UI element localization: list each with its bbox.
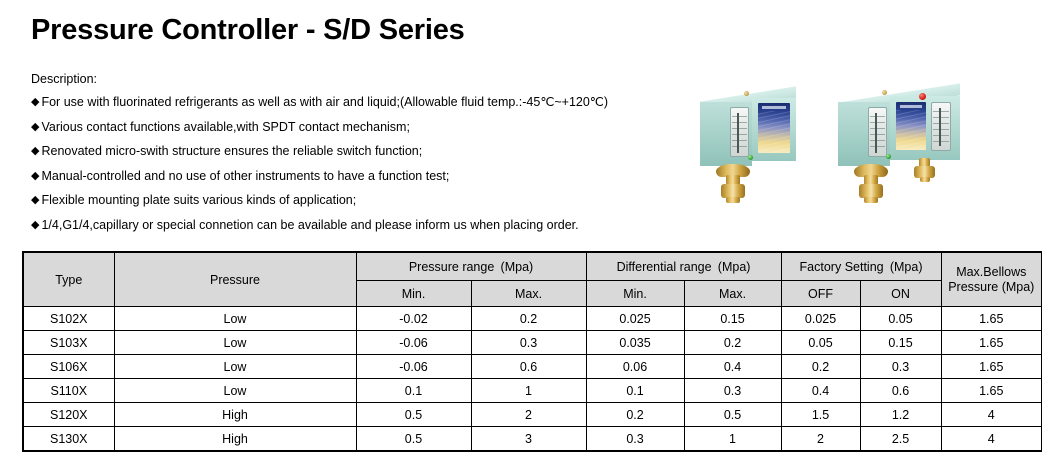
description-bullet-text: Manual-controlled and no use of other in…: [41, 169, 449, 183]
cell-fs-on: 2.5: [860, 427, 941, 452]
table-body: S102X Low -0.02 0.2 0.025 0.15 0.025 0.0…: [23, 307, 1042, 452]
cell-fs-off: 2: [781, 427, 860, 452]
cell-pr-min: 0.5: [356, 427, 471, 452]
single-pressure-controller-image: [678, 62, 838, 222]
product-label-panel: [758, 103, 790, 153]
cell-type: S103X: [23, 331, 114, 355]
table-header-row-1: Type Pressure Pressure range (Mpa) Diffe…: [23, 252, 1042, 281]
cell-fs-off: 0.025: [781, 307, 860, 331]
diamond-bullet-icon: ◆: [31, 218, 39, 232]
cell-fs-off: 0.4: [781, 379, 860, 403]
cell-pressure: Low: [114, 379, 356, 403]
cell-dr-min: 0.3: [586, 427, 684, 452]
cell-dr-max: 0.3: [684, 379, 781, 403]
cell-pressure: High: [114, 403, 356, 427]
cell-pr-max: 0.2: [471, 307, 586, 331]
description-bullet-3: ◆ Renovated micro-swith structure ensure…: [31, 144, 671, 158]
col-header-max-bellows: Max.Bellows Pressure (Mpa): [941, 252, 1042, 307]
cell-dr-min: 0.2: [586, 403, 684, 427]
cell-pr-max: 0.6: [471, 355, 586, 379]
col-header-differential-range: Differential range (Mpa): [586, 252, 781, 281]
col-header-dr-max: Max.: [684, 281, 781, 307]
green-indicator-icon: [886, 154, 891, 159]
table-row: S102X Low -0.02 0.2 0.025 0.15 0.025 0.0…: [23, 307, 1042, 331]
description-bullet-text: 1/4,G1/4,capillary or special connetion …: [41, 218, 578, 232]
diamond-bullet-icon: ◆: [31, 120, 39, 134]
description-bullet-text: Flexible mounting plate suits various ki…: [41, 193, 356, 207]
cell-pr-min: 0.5: [356, 403, 471, 427]
cell-pressure: Low: [114, 355, 356, 379]
diamond-bullet-icon: ◆: [31, 144, 39, 158]
cell-dr-min: 0.035: [586, 331, 684, 355]
cell-type: S110X: [23, 379, 114, 403]
cell-max-bellows: 1.65: [941, 379, 1042, 403]
col-header-type: Type: [23, 252, 114, 307]
cell-fs-on: 0.3: [860, 355, 941, 379]
product-image-strip: [668, 62, 1028, 222]
description-bullet-text: Renovated micro-swith structure ensures …: [41, 144, 422, 158]
dual-pressure-controller-image: [826, 62, 986, 222]
diamond-bullet-icon: ◆: [31, 193, 39, 207]
cell-fs-on: 1.2: [860, 403, 941, 427]
cell-max-bellows: 1.65: [941, 355, 1042, 379]
green-indicator-icon: [748, 155, 753, 160]
cell-fs-on: 0.15: [860, 331, 941, 355]
col-header-pr-min: Min.: [356, 281, 471, 307]
diamond-bullet-icon: ◆: [31, 95, 39, 109]
table-row: S120X High 0.5 2 0.2 0.5 1.5 1.2 4: [23, 403, 1042, 427]
table-header: Type Pressure Pressure range (Mpa) Diffe…: [23, 252, 1042, 307]
cell-pr-max: 0.3: [471, 331, 586, 355]
cell-dr-min: 0.06: [586, 355, 684, 379]
table-row: S106X Low -0.06 0.6 0.06 0.4 0.2 0.3 1.6…: [23, 355, 1042, 379]
description-bullet-4: ◆ Manual-controlled and no use of other …: [31, 169, 671, 183]
description-bullet-6: ◆ 1/4,G1/4,capillary or special connetio…: [31, 218, 671, 232]
cell-type: S130X: [23, 427, 114, 452]
description-bullet-text: For use with fluorinated refrigerants as…: [41, 95, 608, 109]
max-bellows-line-2: Pressure (Mpa): [948, 280, 1034, 294]
cell-pressure: High: [114, 427, 356, 452]
col-header-pr-max: Max.: [471, 281, 586, 307]
description-bullet-text: Various contact functions available,with…: [41, 120, 409, 134]
page-title: Pressure Controller - S/D Series: [31, 14, 465, 47]
cell-fs-off: 0.05: [781, 331, 860, 355]
product-datasheet-page: { "title": "Pressure Controller - S/D Se…: [0, 0, 1042, 456]
cell-pressure: Low: [114, 331, 356, 355]
cell-fs-on: 0.6: [860, 379, 941, 403]
description-bullet-1: ◆ For use with fluorinated refrigerants …: [31, 95, 671, 109]
cell-dr-max: 0.2: [684, 331, 781, 355]
cell-type: S120X: [23, 403, 114, 427]
diamond-bullet-icon: ◆: [31, 169, 39, 183]
scale-window-right: [931, 102, 951, 151]
cell-fs-off: 0.2: [781, 355, 860, 379]
cell-max-bellows: 1.65: [941, 307, 1042, 331]
red-reset-button-icon[interactable]: [919, 93, 926, 100]
col-header-pressure: Pressure: [114, 252, 356, 307]
table-row: S110X Low 0.1 1 0.1 0.3 0.4 0.6 1.65: [23, 379, 1042, 403]
description-section: Description: ◆ For use with fluorinated …: [31, 72, 671, 242]
cell-pr-max: 3: [471, 427, 586, 452]
cell-dr-min: 0.1: [586, 379, 684, 403]
cell-pr-min: 0.1: [356, 379, 471, 403]
col-header-factory-setting: Factory Setting (Mpa): [781, 252, 941, 281]
cell-dr-min: 0.025: [586, 307, 684, 331]
col-header-dr-min: Min.: [586, 281, 684, 307]
max-bellows-line-1: Max.Bellows: [956, 265, 1026, 279]
cell-dr-max: 0.5: [684, 403, 781, 427]
cell-type: S106X: [23, 355, 114, 379]
cell-fs-off: 1.5: [781, 403, 860, 427]
specifications-table: Type Pressure Pressure range (Mpa) Diffe…: [22, 251, 1042, 452]
table-row: S130X High 0.5 3 0.3 1 2 2.5 4: [23, 427, 1042, 452]
cell-fs-on: 0.05: [860, 307, 941, 331]
cell-pr-min: -0.02: [356, 307, 471, 331]
table-row: S103X Low -0.06 0.3 0.035 0.2 0.05 0.15 …: [23, 331, 1042, 355]
scale-window: [730, 107, 749, 157]
cell-type: S102X: [23, 307, 114, 331]
description-bullet-5: ◆ Flexible mounting plate suits various …: [31, 193, 671, 207]
cell-pr-min: -0.06: [356, 331, 471, 355]
product-label-panel: [896, 102, 926, 150]
cell-dr-max: 1: [684, 427, 781, 452]
cell-dr-max: 0.4: [684, 355, 781, 379]
description-bullet-2: ◆ Various contact functions available,wi…: [31, 120, 671, 134]
col-header-fs-off: OFF: [781, 281, 860, 307]
cell-pressure: Low: [114, 307, 356, 331]
scale-window-left: [868, 107, 887, 157]
cell-max-bellows: 1.65: [941, 331, 1042, 355]
cell-max-bellows: 4: [941, 427, 1042, 452]
cell-pr-min: -0.06: [356, 355, 471, 379]
col-header-fs-on: ON: [860, 281, 941, 307]
cell-pr-max: 1: [471, 379, 586, 403]
col-header-pressure-range: Pressure range (Mpa): [356, 252, 586, 281]
description-label: Description:: [31, 72, 671, 86]
cell-max-bellows: 4: [941, 403, 1042, 427]
cell-dr-max: 0.15: [684, 307, 781, 331]
cell-pr-max: 2: [471, 403, 586, 427]
